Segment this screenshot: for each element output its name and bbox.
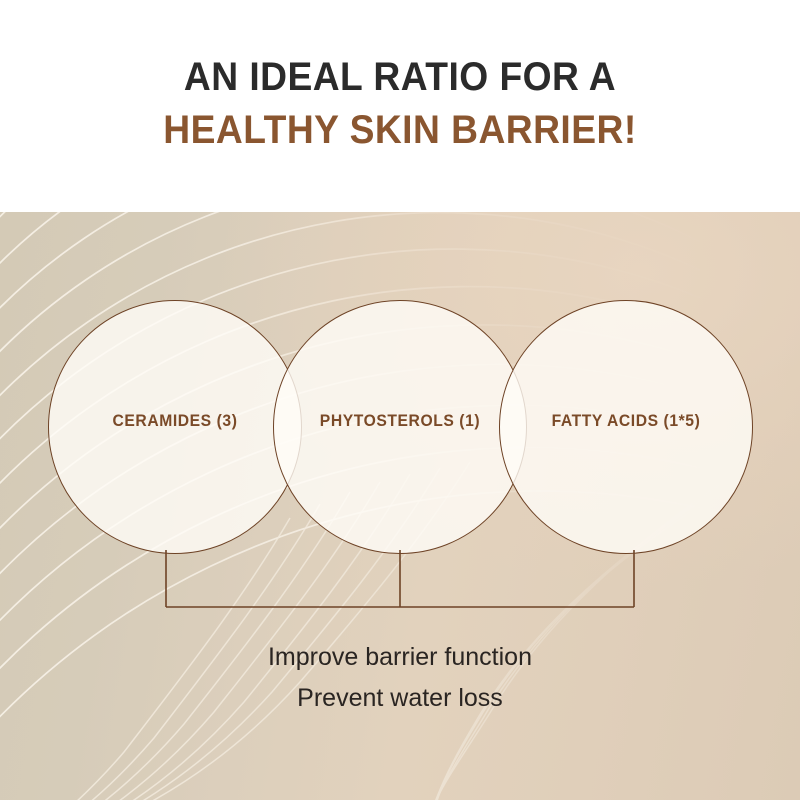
header-band: AN IDEAL RATIO FOR A HEALTHY SKIN BARRIE… (0, 0, 800, 212)
benefits-list: Improve barrier function Prevent water l… (0, 637, 800, 719)
title-line-primary: AN IDEAL RATIO FOR A (28, 57, 772, 97)
benefit-item-2: Prevent water loss (0, 678, 800, 719)
diagram-panel: CERAMIDES (3) PHYTOSTEROLS (1) FATTY ACI… (0, 212, 800, 800)
title-line-accent: HEALTHY SKIN BARRIER! (28, 110, 772, 150)
benefit-item-1: Improve barrier function (0, 637, 800, 678)
poster-canvas: AN IDEAL RATIO FOR A HEALTHY SKIN BARRIE… (0, 0, 800, 800)
